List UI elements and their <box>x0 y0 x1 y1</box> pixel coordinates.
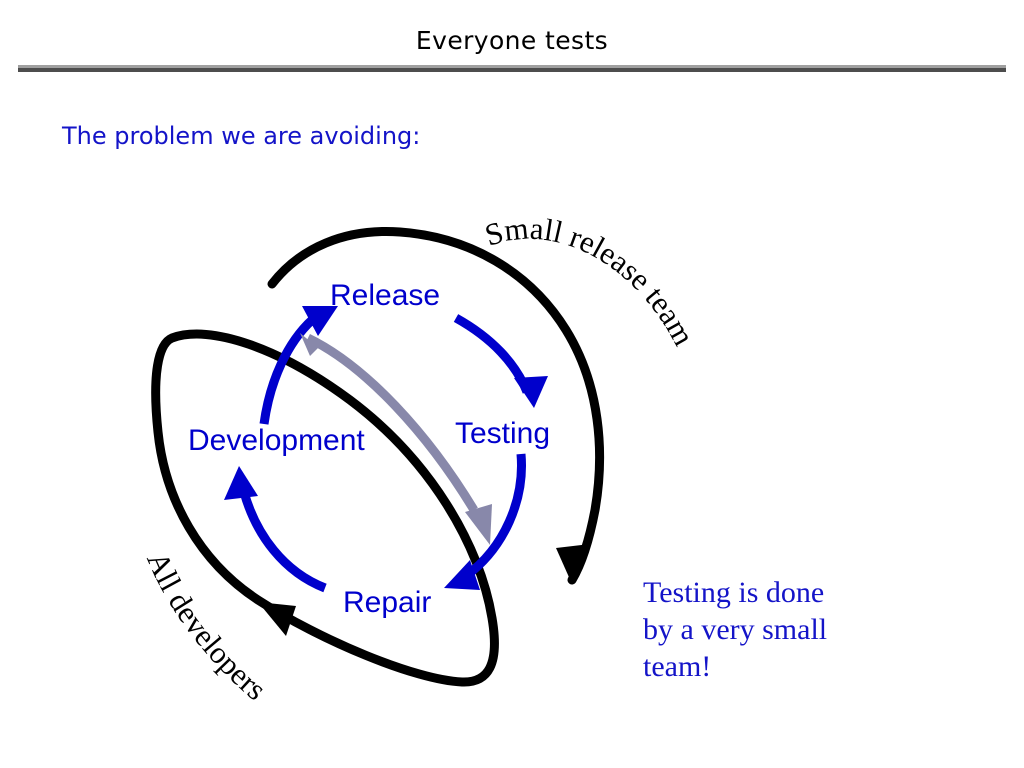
cycle-node-repair: Repair <box>343 586 431 619</box>
arrow-repair-to-development-head <box>224 466 258 500</box>
cycle-node-development: Development <box>188 424 365 457</box>
callout-line-3: team! <box>643 648 963 685</box>
label-small-release-team-text: Small release team <box>481 210 702 351</box>
callout-line-1: Testing is done <box>643 574 963 611</box>
arrow-release-to-testing-head <box>514 376 548 408</box>
slide-canvas: Everyone tests The problem we are avoidi… <box>0 0 1024 768</box>
label-all-developers: All developers <box>140 547 273 707</box>
arrow-repair-to-development-path <box>244 492 325 588</box>
outer-loop-arrowhead <box>556 544 590 584</box>
label-small-release-team: Small release team <box>481 210 702 351</box>
label-all-developers-text: All developers <box>140 547 273 707</box>
arrow-repair-to-development <box>224 466 325 588</box>
arrow-release-to-testing <box>456 318 548 408</box>
inner-loop-arrowhead <box>258 602 296 636</box>
cycle-node-release: Release <box>330 279 440 312</box>
callout-line-2: by a very small <box>643 611 963 648</box>
cycle-node-testing: Testing <box>455 417 550 450</box>
callout-text: Testing is done by a very small team! <box>643 574 963 685</box>
